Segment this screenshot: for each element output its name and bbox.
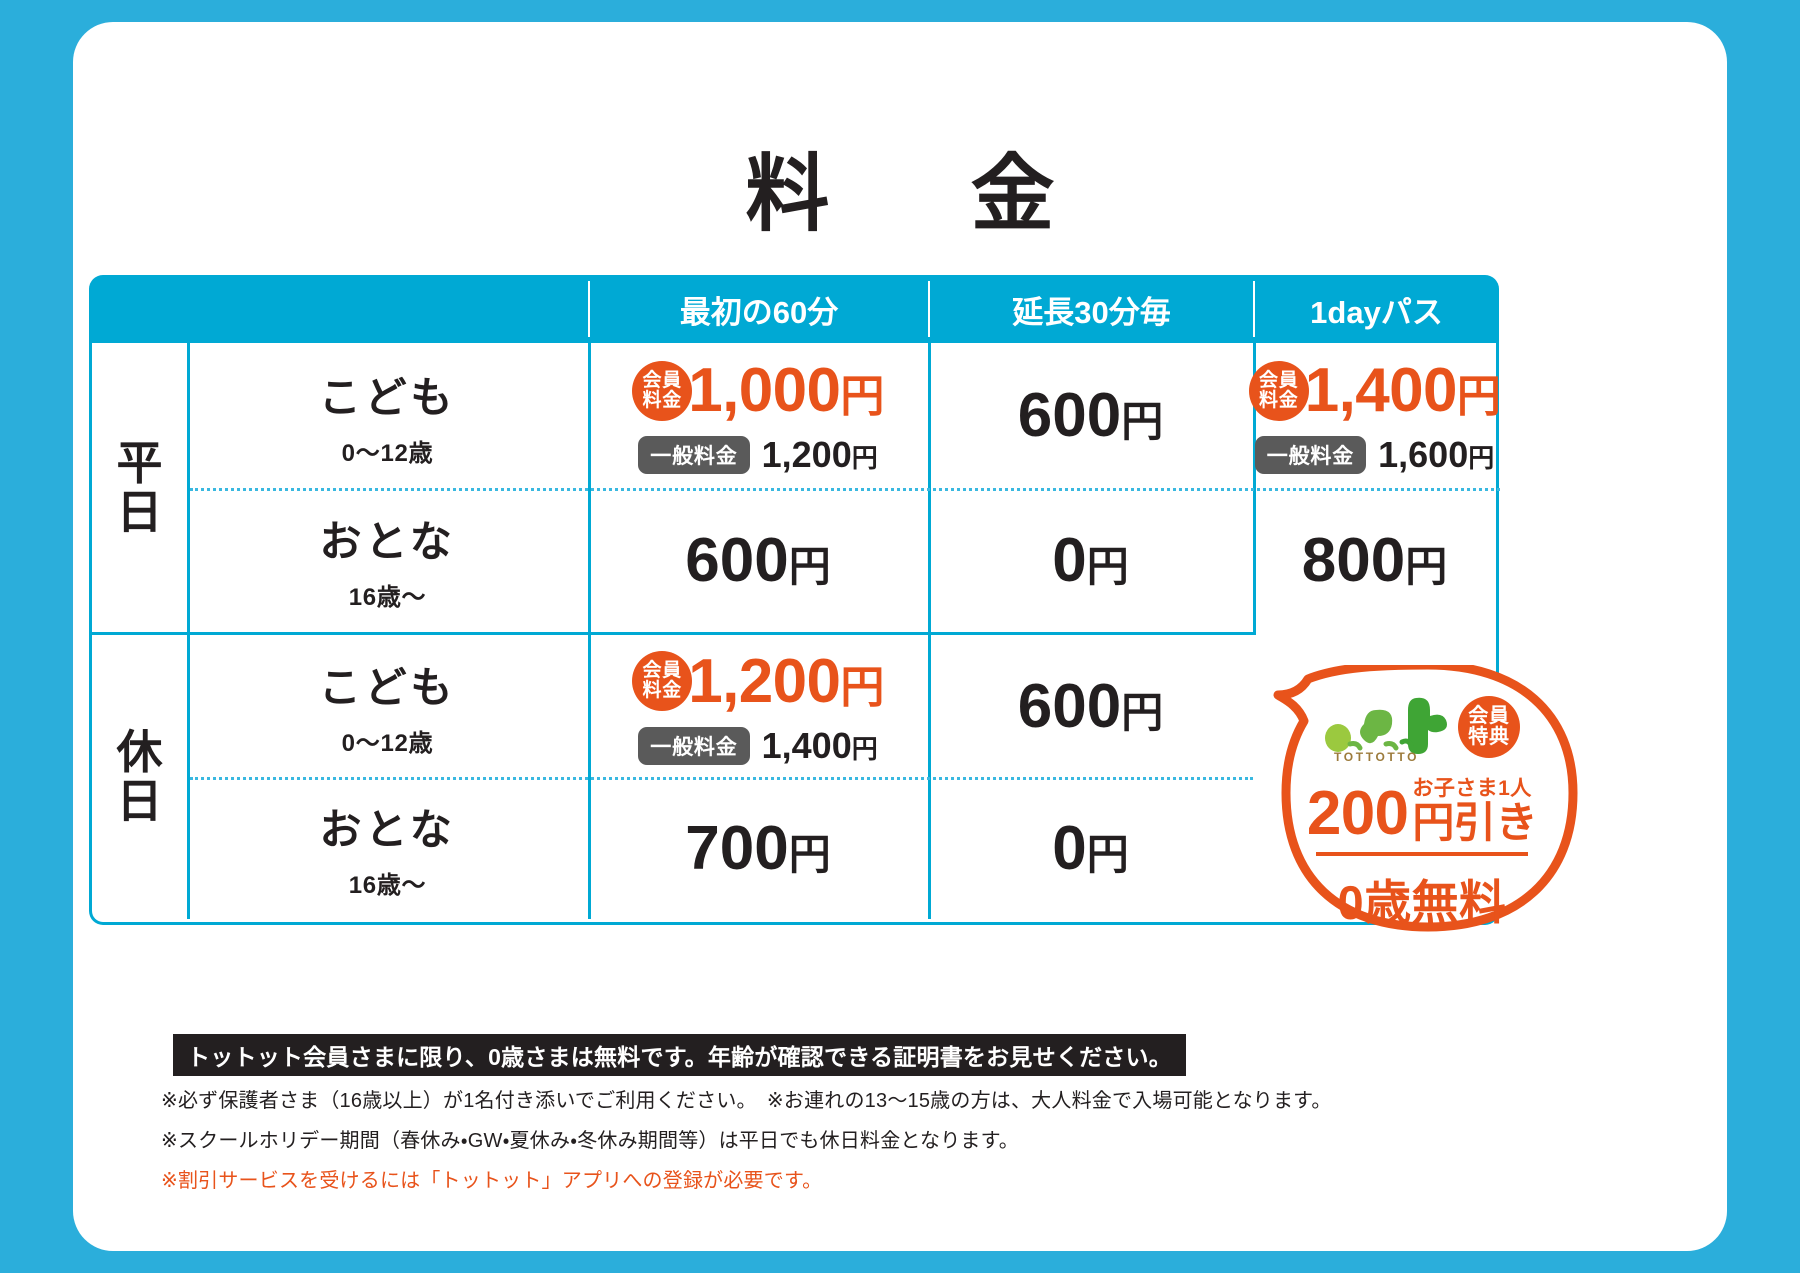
general-price-value: 1,400円 bbox=[762, 725, 878, 767]
age-cell-weekday-child: こども 0〜12歳 bbox=[187, 343, 588, 488]
who-label: こども bbox=[319, 654, 456, 715]
who-label: こども bbox=[319, 364, 456, 425]
yen-unit: 円 bbox=[1087, 543, 1129, 590]
column-header-ext30: 延長30分毎 bbox=[929, 275, 1254, 343]
member-price-badge: 会員 料金 bbox=[1249, 361, 1309, 421]
who-label: おとな bbox=[319, 796, 455, 857]
pricing-card: 料 金 最初の60分 延長30分毎 1dayパス 平 bbox=[73, 22, 1727, 1251]
header-divider bbox=[588, 281, 590, 337]
price-number: 600 bbox=[1018, 381, 1121, 450]
who-label: おとな bbox=[319, 508, 455, 569]
age-cell-weekday-adult: おとな 16歳〜 bbox=[187, 488, 588, 632]
day-label-char1: 休 bbox=[117, 728, 163, 777]
price-value: 800円 bbox=[1302, 525, 1447, 596]
price-cell-holiday-adult-ext30: 0円 bbox=[928, 777, 1253, 919]
member-badge-line2: 料金 bbox=[643, 681, 683, 701]
day-label-char2: 日 bbox=[117, 488, 163, 537]
yen-unit: 円 bbox=[840, 663, 883, 712]
per-child-label: お子さま1人 bbox=[1412, 772, 1531, 802]
general-price-value: 1,200円 bbox=[762, 434, 878, 476]
page-title: 料 金 bbox=[73, 127, 1727, 248]
price-number: 700 bbox=[685, 814, 788, 883]
member-badge-line2: 料金 bbox=[1259, 391, 1299, 411]
general-price-line: 一般料金 1,600円 bbox=[1255, 434, 1494, 476]
price-cell-weekday-child-first60: 会員 料金 1,000円 一般料金 1,200円 bbox=[588, 343, 928, 488]
discount-label: 円引き bbox=[1412, 802, 1537, 844]
discount-row: 200 お子さま1人 円引き bbox=[1307, 772, 1537, 844]
header-divider bbox=[1253, 281, 1255, 337]
footnote-item-highlight: ※割引サービスを受けるには「トットット」アプリへの登録が必要です。 bbox=[161, 1164, 1361, 1193]
column-header-first60: 最初の60分 bbox=[589, 275, 929, 343]
yen-unit: 円 bbox=[852, 443, 878, 473]
price-cell-weekday-adult-1day: 800円 bbox=[1253, 488, 1496, 632]
yen-unit: 円 bbox=[1457, 372, 1500, 421]
price-number: 600 bbox=[1018, 672, 1121, 741]
price-value: 0円 bbox=[1052, 813, 1129, 884]
member-price-line: 会員 料金 1,000円 bbox=[632, 355, 883, 426]
member-benefit-badge: 会員 特典 bbox=[1458, 696, 1520, 758]
footnotes: ※必ず保護者さま（16歳以上）が1名付き添いでご利用ください。 ※お連れの13〜… bbox=[161, 1084, 1361, 1204]
tottotto-leaf-icon bbox=[1324, 694, 1452, 754]
price-number: 600 bbox=[685, 526, 788, 595]
member-price-line: 会員 料金 1,400円 bbox=[1249, 355, 1500, 426]
price-number: 1,200 bbox=[688, 647, 840, 716]
price-cell-weekday-adult-first60: 600円 bbox=[588, 488, 928, 632]
day-label-char1: 平 bbox=[117, 439, 163, 488]
tottotto-logo: TOTTOTTO bbox=[1324, 694, 1452, 762]
general-price-value: 1,600円 bbox=[1378, 434, 1494, 476]
yen-unit: 円 bbox=[1121, 398, 1163, 445]
price-cell-holiday-child-first60: 会員 料金 1,200円 一般料金 1,400円 bbox=[588, 635, 928, 777]
yen-unit: 円 bbox=[789, 543, 831, 590]
table-header-row: 最初の60分 延長30分毎 1dayパス bbox=[89, 275, 1499, 343]
member-price-value: 1,000円 bbox=[688, 355, 883, 426]
member-price-value: 1,200円 bbox=[688, 646, 883, 717]
yen-unit: 円 bbox=[1087, 831, 1129, 878]
general-price-line: 一般料金 1,400円 bbox=[638, 725, 877, 767]
price-number: 0 bbox=[1052, 526, 1086, 595]
price-value: 600円 bbox=[1018, 380, 1163, 451]
logo-wordmark: TOTTOTTO bbox=[1334, 750, 1419, 764]
row-group-label-weekday: 平 日 bbox=[92, 343, 187, 632]
yen-unit: 円 bbox=[1468, 443, 1494, 473]
price-number: 1,400 bbox=[762, 725, 852, 766]
age-range-label: 0〜12歳 bbox=[342, 433, 434, 468]
discount-amount: 200 bbox=[1307, 785, 1409, 844]
free-age-label: 0歳無料 bbox=[1337, 864, 1506, 933]
yen-unit: 円 bbox=[840, 372, 883, 421]
header-divider bbox=[928, 281, 930, 337]
column-header-1day: 1dayパス bbox=[1254, 275, 1499, 343]
row-group-label-holiday: 休 日 bbox=[92, 635, 187, 919]
member-price-badge: 会員 料金 bbox=[632, 361, 692, 421]
price-cell-holiday-child-ext30: 600円 bbox=[928, 635, 1253, 777]
price-number: 1,400 bbox=[1305, 356, 1457, 425]
member-badge-line1: 会員 bbox=[1259, 371, 1299, 391]
member-badge-line2: 料金 bbox=[643, 391, 683, 411]
price-cell-weekday-child-ext30: 600円 bbox=[928, 343, 1253, 488]
price-cell-weekday-child-1day: 会員 料金 1,400円 一般料金 1,600円 bbox=[1253, 343, 1496, 488]
price-cell-weekday-adult-ext30: 0円 bbox=[928, 488, 1253, 632]
age-cell-holiday-adult: おとな 16歳〜 bbox=[187, 777, 588, 919]
day-label-char2: 日 bbox=[117, 777, 163, 826]
age-range-label: 0〜12歳 bbox=[342, 723, 434, 758]
general-price-badge: 一般料金 bbox=[638, 727, 749, 765]
benefit-badge-line2: 特典 bbox=[1468, 727, 1510, 748]
price-number: 800 bbox=[1302, 526, 1405, 595]
footnote-item: ※必ず保護者さま（16歳以上）が1名付き添いでご利用ください。 ※お連れの13〜… bbox=[161, 1084, 1361, 1113]
price-number: 0 bbox=[1052, 814, 1086, 883]
price-number: 1,600 bbox=[1378, 434, 1468, 475]
member-price-badge: 会員 料金 bbox=[632, 651, 692, 711]
bubble-divider bbox=[1316, 852, 1528, 856]
price-number: 1,000 bbox=[688, 356, 840, 425]
yen-unit: 円 bbox=[852, 734, 878, 764]
price-value: 700円 bbox=[685, 813, 830, 884]
footnote-item: ※スクールホリデー期間（春休み・GW・夏休み・冬休み期間等）は平日でも休日料金と… bbox=[161, 1124, 1361, 1153]
age-range-label: 16歳〜 bbox=[349, 577, 427, 612]
discount-text-group: お子さま1人 円引き bbox=[1412, 772, 1537, 844]
price-value: 600円 bbox=[1018, 671, 1163, 742]
general-price-badge: 一般料金 bbox=[1255, 436, 1366, 474]
general-price-line: 一般料金 1,200円 bbox=[638, 434, 877, 476]
notice-ribbon: トットット会員さまに限り、0歳さまは無料です。年齢が確認できる証明書をお見せくだ… bbox=[173, 1034, 1186, 1076]
benefit-badge-line1: 会員 bbox=[1468, 706, 1510, 727]
price-cell-holiday-adult-first60: 700円 bbox=[588, 777, 928, 919]
age-cell-holiday-child: こども 0〜12歳 bbox=[187, 635, 588, 777]
age-range-label: 16歳〜 bbox=[349, 865, 427, 900]
member-price-line: 会員 料金 1,200円 bbox=[632, 646, 883, 717]
member-badge-line1: 会員 bbox=[643, 371, 683, 391]
member-badge-line1: 会員 bbox=[643, 661, 683, 681]
price-value: 600円 bbox=[685, 525, 830, 596]
yen-unit: 円 bbox=[1405, 543, 1447, 590]
member-price-value: 1,400円 bbox=[1305, 355, 1500, 426]
price-value: 0円 bbox=[1052, 525, 1129, 596]
logo-row: TOTTOTTO 会員 特典 bbox=[1324, 694, 1520, 762]
bubble-content: TOTTOTTO 会員 特典 200 お子さま1人 円引き 0歳無料 bbox=[1280, 672, 1564, 934]
general-price-badge: 一般料金 bbox=[638, 436, 749, 474]
price-number: 1,200 bbox=[762, 434, 852, 475]
yen-unit: 円 bbox=[789, 831, 831, 878]
yen-unit: 円 bbox=[1121, 689, 1163, 736]
